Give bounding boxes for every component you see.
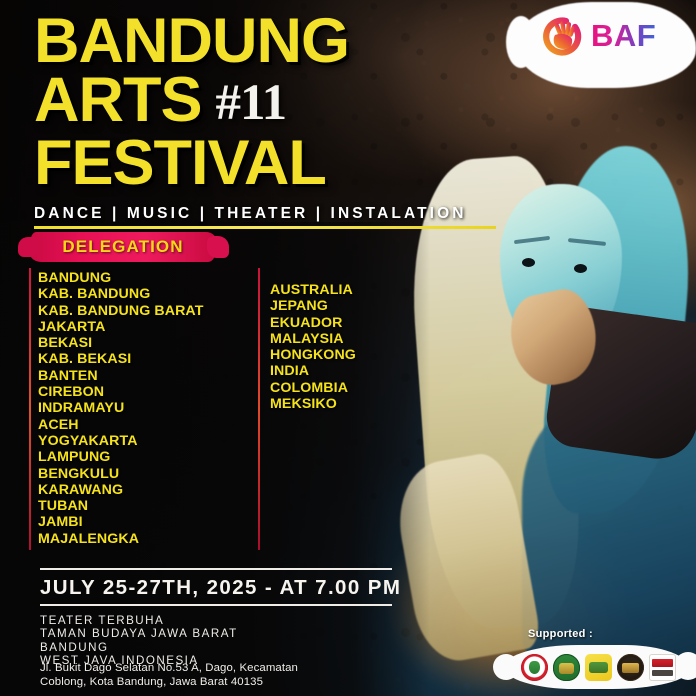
delegation-item: JEPANG — [270, 298, 420, 314]
delegation-item: JAMBI — [38, 514, 256, 530]
delegation-item: AUSTRALIA — [270, 282, 420, 298]
delegation-list-international: AUSTRALIAJEPANGEKUADORMALAYSIAHONGKONGIN… — [270, 282, 420, 412]
discipline-subtitle: DANCE | MUSIC | THEATER | INSTALATION — [34, 205, 496, 223]
delegation-item: INDIA — [270, 363, 420, 379]
venue-line: TEATER TERBUHA — [40, 614, 370, 627]
baf-logo: BAF — [540, 14, 656, 58]
hand-circle-icon — [540, 14, 584, 58]
festival-poster: BAF BANDUNG ARTS #11 FESTIVAL DANCE | MU… — [0, 0, 696, 696]
delegation-item: KAB. BANDUNG — [38, 286, 256, 302]
figure-eye-right — [574, 264, 587, 273]
delegation-item: MAJALENGKA — [38, 531, 256, 547]
address-line: Coblong, Kota Bandung, Jawa Barat 40135 — [40, 676, 380, 690]
address-block: Jl. Bukit Dago Selatan No.53 A, Dago, Ke… — [40, 662, 380, 689]
delegation-item: COLOMBIA — [270, 380, 420, 396]
delegation-item: KAB. BEKASI — [38, 351, 256, 367]
delegation-item: BENGKULU — [38, 466, 256, 482]
sponsor-logo-1-icon — [521, 654, 548, 681]
delegation-item: HONGKONG — [270, 347, 420, 363]
date-rule-top — [40, 568, 392, 570]
delegation-divider-left — [29, 268, 31, 550]
venue-block: TEATER TERBUHATAMAN BUDAYA JAWA BARATBAN… — [40, 614, 370, 668]
title-block: BANDUNG ARTS #11 FESTIVAL — [34, 12, 494, 193]
sponsor-logo-2-icon — [553, 654, 580, 681]
delegation-item: YOGYAKARTA — [38, 433, 256, 449]
baf-wordmark: BAF — [591, 18, 656, 54]
delegation-item: KAB. BANDUNG BARAT — [38, 303, 256, 319]
title-line-1: BANDUNG — [34, 12, 494, 71]
address-line: Jl. Bukit Dago Selatan No.53 A, Dago, Ke… — [40, 662, 380, 676]
venue-line: BANDUNG — [40, 641, 370, 654]
delegation-item: CIREBON — [38, 384, 256, 400]
delegation-item: MALAYSIA — [270, 331, 420, 347]
title-line-3: FESTIVAL — [34, 134, 494, 193]
subtitle-underline — [34, 226, 496, 229]
date-rule-bottom — [40, 604, 392, 606]
delegation-item: BANTEN — [38, 368, 256, 384]
sponsor-logo-3-icon — [585, 654, 612, 681]
delegation-item: BEKASI — [38, 335, 256, 351]
edition-number: #11 — [216, 74, 287, 132]
delegation-item: JAKARTA — [38, 319, 256, 335]
figure-eye-left — [522, 258, 535, 267]
title-line-2: ARTS — [34, 71, 202, 130]
title-line-2-row: ARTS #11 — [34, 71, 494, 134]
delegation-item: EKUADOR — [270, 315, 420, 331]
supported-label: Supported : — [528, 628, 593, 640]
sponsor-logo-row — [512, 652, 684, 682]
delegation-item: LAMPUNG — [38, 449, 256, 465]
venue-line: TAMAN BUDAYA JAWA BARAT — [40, 627, 370, 640]
sponsor-logo-4-icon — [617, 654, 644, 681]
delegation-item: TUBAN — [38, 498, 256, 514]
delegation-item: INDRAMAYU — [38, 400, 256, 416]
delegation-item: MEKSIKO — [270, 396, 420, 412]
sponsor-logo-5-icon — [649, 654, 676, 681]
delegation-list-local: BANDUNGKAB. BANDUNGKAB. BANDUNG BARATJAK… — [38, 270, 256, 547]
delegation-item: ACEH — [38, 417, 256, 433]
delegation-item: BANDUNG — [38, 270, 256, 286]
event-date: JULY 25-27TH, 2025 - AT 7.00 PM — [40, 576, 410, 600]
delegation-divider-middle — [258, 268, 260, 550]
delegation-item: KARAWANG — [38, 482, 256, 498]
delegation-banner-label: DELEGATION — [30, 232, 216, 262]
